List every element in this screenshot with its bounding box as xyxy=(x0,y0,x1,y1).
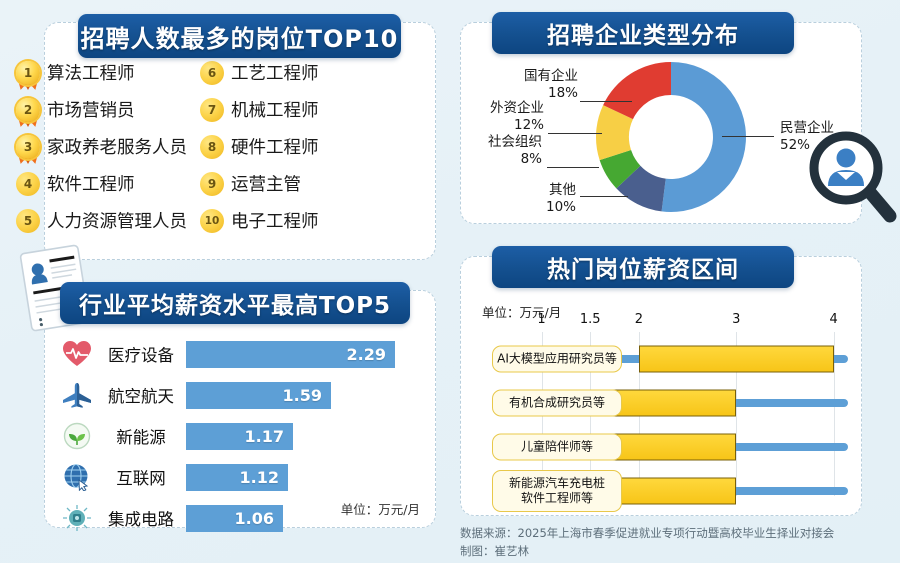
leader-line-stateowned xyxy=(580,101,632,102)
leader-line-foreign xyxy=(548,133,602,134)
rank-badge-8: 8 xyxy=(200,135,224,159)
donut-label-foreign: 外资企业 12% xyxy=(440,100,544,134)
top5-bar-row: 医疗设备2.29 xyxy=(58,336,420,372)
rank-badge-5: 5 xyxy=(16,209,40,233)
job-title: 机械工程师 xyxy=(231,97,319,122)
position-label: 有机合成研究员等 xyxy=(492,390,622,417)
top10-title: 招聘人数最多的岗位TOP10 xyxy=(78,14,401,58)
rank-number: 10 xyxy=(200,209,224,233)
industry-name: 互联网 xyxy=(96,465,186,489)
top5-bar-row: 航空航天1.59 xyxy=(58,377,420,413)
job-title: 市场营销员 xyxy=(47,97,135,122)
bar-track: 1.59 xyxy=(186,382,420,409)
top10-job-item: 8硬件工程师 xyxy=(200,128,370,165)
top10-job-item: 4软件工程师 xyxy=(16,165,186,202)
salary-range-body: 单位：万元/月 11.5234AI大模型应用研究员等有机合成研究员等儿童陪伴师等… xyxy=(460,256,860,514)
job-title: 硬件工程师 xyxy=(231,134,319,159)
rank-badge-4: 4 xyxy=(16,172,40,196)
salary-range-row: 有机合成研究员等 xyxy=(480,380,850,426)
position-label: AI大模型应用研究员等 xyxy=(492,346,622,373)
donut-label-social: 社会组织 8% xyxy=(440,134,542,168)
top5-bar-row: 互联网1.12 xyxy=(58,459,420,495)
industry-name: 医疗设备 xyxy=(96,342,186,366)
industry-name: 航空航天 xyxy=(96,383,186,407)
rank-badge-2: 2 xyxy=(16,98,40,122)
top5-unit-label: 单位：万元/月 xyxy=(341,499,420,518)
rank-number: 8 xyxy=(200,135,224,159)
salary-range-row: AI大模型应用研究员等 xyxy=(480,336,850,382)
globe-icon xyxy=(58,461,96,493)
rank-badge-10: 10 xyxy=(200,209,224,233)
position-label: 儿童陪伴师等 xyxy=(492,434,622,461)
salary-range-plot: 11.5234AI大模型应用研究员等有机合成研究员等儿童陪伴师等新能源汽车充电桩… xyxy=(480,302,850,500)
position-label: 新能源汽车充电桩软件工程师等 xyxy=(492,470,622,512)
footer-source: 数据来源：2025年上海市春季促进就业专项行动暨高校毕业生择业对接会 xyxy=(460,524,890,542)
axis-tick-label: 1.5 xyxy=(580,312,601,327)
top5-bars-container: 医疗设备2.29航空航天1.59新能源1.17互联网1.12集成电路1.06 单… xyxy=(44,290,434,526)
bar-fill: 1.59 xyxy=(186,382,331,409)
rank-badge-1: 1 xyxy=(16,61,40,85)
job-title: 家政养老服务人员 xyxy=(47,134,187,159)
rank-badge-9: 9 xyxy=(200,172,224,196)
chip-icon xyxy=(58,502,96,534)
job-title: 电子工程师 xyxy=(231,208,319,233)
leader-line-other xyxy=(580,196,628,197)
rank-badge-6: 6 xyxy=(200,61,224,85)
rank-number: 5 xyxy=(16,209,40,233)
footer-credits: 数据来源：2025年上海市春季促进就业专项行动暨高校毕业生择业对接会 制图：崔艺… xyxy=(460,524,890,561)
top5-salary-title: 行业平均薪资水平最高TOP5 xyxy=(60,282,410,324)
range-box xyxy=(639,346,834,373)
industry-name: 集成电路 xyxy=(96,506,186,530)
industry-name: 新能源 xyxy=(96,424,186,448)
leader-line-private xyxy=(722,136,774,137)
top10-job-item: 10电子工程师 xyxy=(200,202,370,239)
magnifier-person-icon xyxy=(806,128,898,228)
donut-label-other: 其他 10% xyxy=(490,182,576,216)
salary-range-row: 儿童陪伴师等 xyxy=(480,424,850,470)
rank-badge-3: 3 xyxy=(16,135,40,159)
bar-track: 1.12 xyxy=(186,464,420,491)
salary-range-row: 新能源汽车充电桩软件工程师等 xyxy=(480,468,850,514)
top10-job-item: 9运营主管 xyxy=(200,165,370,202)
enterprise-type-title: 招聘企业类型分布 xyxy=(492,12,794,54)
axis-tick-label: 2 xyxy=(635,312,643,327)
top10-job-item: 2市场营销员 xyxy=(16,91,186,128)
rank-number: 4 xyxy=(16,172,40,196)
rank-number: 1 xyxy=(16,61,40,85)
heart-ekg-icon xyxy=(58,338,96,370)
top10-job-item: 1算法工程师 xyxy=(16,54,186,91)
salary-range-title: 热门岗位薪资区间 xyxy=(492,246,794,288)
rank-number: 7 xyxy=(200,98,224,122)
rank-badge-7: 7 xyxy=(200,98,224,122)
rank-number: 6 xyxy=(200,61,224,85)
bar-fill: 2.29 xyxy=(186,341,395,368)
job-title: 工艺工程师 xyxy=(231,60,319,85)
bar-fill: 1.17 xyxy=(186,423,293,450)
job-title: 人力资源管理人员 xyxy=(47,208,187,233)
top10-job-item: 6工艺工程师 xyxy=(200,54,370,91)
rank-number: 9 xyxy=(200,172,224,196)
job-title: 运营主管 xyxy=(231,171,301,196)
bar-track: 1.17 xyxy=(186,423,420,450)
bar-fill: 1.06 xyxy=(186,505,283,532)
bar-track: 2.29 xyxy=(186,341,420,368)
axis-tick-label: 3 xyxy=(732,312,740,327)
top10-job-item: 7机械工程师 xyxy=(200,91,370,128)
bar-fill: 1.12 xyxy=(186,464,288,491)
top10-job-item: 3家政养老服务人员 xyxy=(16,128,186,165)
job-title: 算法工程师 xyxy=(47,60,135,85)
donut-label-stateowned: 国有企业 18% xyxy=(470,68,578,102)
rank-number: 2 xyxy=(16,98,40,122)
footer-credit: 制图：崔艺林 xyxy=(460,542,890,560)
top5-bar-row: 新能源1.17 xyxy=(58,418,420,454)
leader-line-social xyxy=(547,167,599,168)
top10-job-grid: 1算法工程师6工艺工程师2市场营销员7机械工程师3家政养老服务人员8硬件工程师4… xyxy=(16,54,376,239)
rank-number: 3 xyxy=(16,135,40,159)
airplane-icon xyxy=(58,379,96,411)
job-title: 软件工程师 xyxy=(47,171,135,196)
top10-job-item: 5人力资源管理人员 xyxy=(16,202,186,239)
leaf-icon xyxy=(58,420,96,452)
axis-tick-label: 4 xyxy=(830,312,838,327)
axis-tick-label: 1 xyxy=(537,312,545,327)
infographic-canvas: 招聘人数最多的岗位TOP10 1算法工程师6工艺工程师2市场营销员7机械工程师3… xyxy=(0,0,900,563)
